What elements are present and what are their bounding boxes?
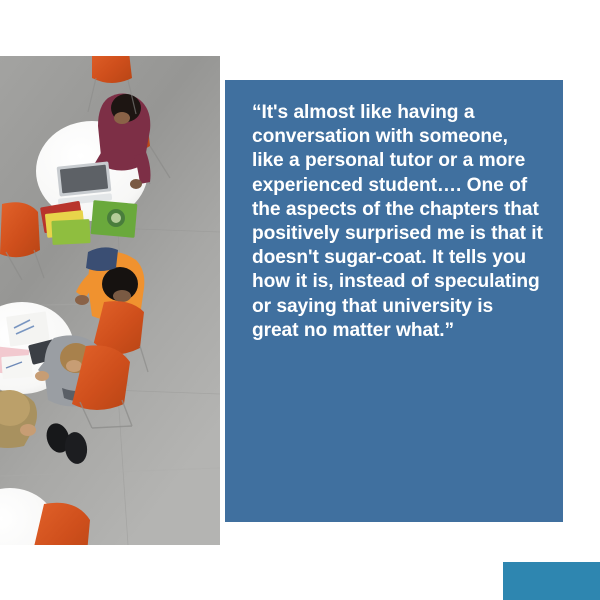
laptop	[57, 161, 113, 205]
slide-canvas: “It's almost like having a conversation …	[0, 0, 600, 600]
bottom-right-accent-bar	[503, 562, 600, 600]
students-photo	[0, 56, 220, 545]
chair-top	[92, 56, 132, 83]
quote-panel: “It's almost like having a conversation …	[225, 80, 563, 522]
photo-illustration	[0, 56, 220, 545]
quote-text: “It's almost like having a conversation …	[252, 101, 544, 343]
